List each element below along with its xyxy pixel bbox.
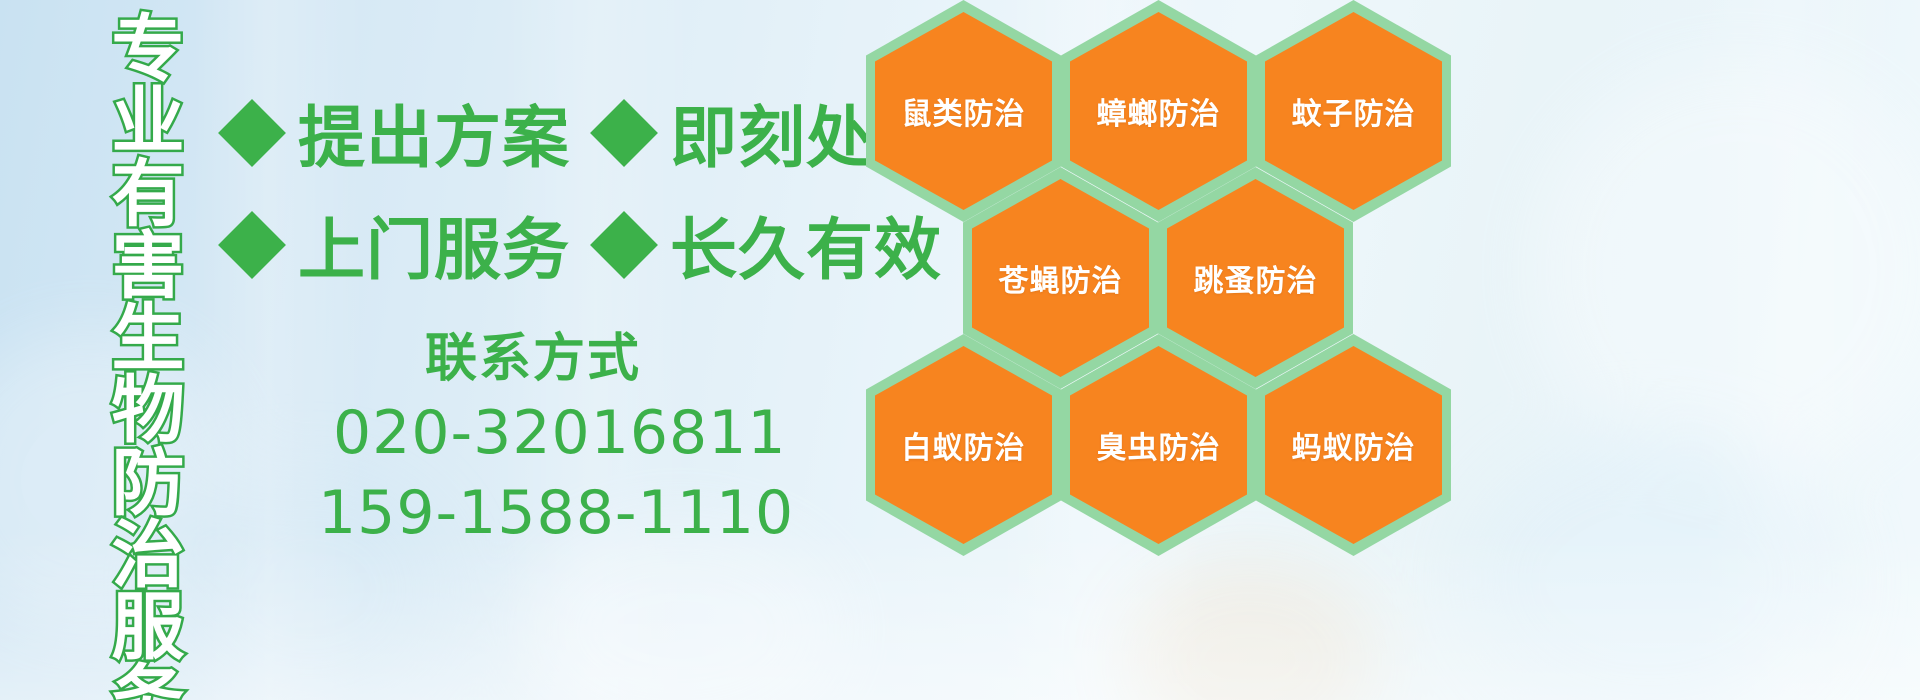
hex-label: 跳蚤防治 xyxy=(1194,256,1318,300)
diamond-bullet-icon xyxy=(218,99,286,167)
diamond-bullet-icon xyxy=(590,211,658,279)
contact-title: 联系方式 xyxy=(425,316,641,391)
vertical-title-char: 害 xyxy=(112,231,185,303)
phone-number-mobile[interactable]: 159-1588-1110 xyxy=(318,478,794,548)
diamond-bullet-icon xyxy=(218,211,286,279)
hex-label: 苍蝇防治 xyxy=(999,256,1123,300)
vertical-title-char: 有 xyxy=(112,159,185,231)
pest-control-banner: 专 业 有 害 生 物 防 治 服 务 提出方案 即刻处理 上门服务 长久有效 … xyxy=(0,0,1920,700)
vertical-title-char: 务 xyxy=(112,664,185,700)
service-honeycomb: 鼠类防治 蟑螂防治 蚊子防治 苍蝇防治 跳蚤防治 xyxy=(858,0,1458,552)
hex-label: 白蚁防治 xyxy=(902,423,1026,467)
vertical-title-char: 业 xyxy=(112,86,185,158)
hex-label: 蟑螂防治 xyxy=(1097,89,1221,133)
vertical-title-char: 服 xyxy=(112,592,185,664)
hex-bedbug-control[interactable]: 臭虫防治 xyxy=(1061,334,1256,556)
hex-label: 鼠类防治 xyxy=(902,89,1026,133)
vertical-title-char: 治 xyxy=(112,520,185,592)
hex-ant-control[interactable]: 蚂蚁防治 xyxy=(1256,334,1451,556)
hex-termite-control[interactable]: 白蚁防治 xyxy=(866,334,1061,556)
vertical-title-char: 生 xyxy=(112,303,185,375)
feature-label: 上门服务 xyxy=(298,196,570,293)
vertical-title-char: 防 xyxy=(112,448,185,520)
vertical-title-char: 专 xyxy=(112,14,185,86)
diamond-bullet-icon xyxy=(590,99,658,167)
hex-label: 蚂蚁防治 xyxy=(1292,423,1416,467)
hex-label: 蚊子防治 xyxy=(1292,89,1416,133)
hex-label: 臭虫防治 xyxy=(1097,423,1221,467)
vertical-title: 专 业 有 害 生 物 防 治 服 务 xyxy=(100,14,196,574)
phone-number-landline[interactable]: 020-32016811 xyxy=(333,398,787,468)
feature-label: 提出方案 xyxy=(298,84,570,181)
vertical-title-char: 物 xyxy=(112,375,185,447)
